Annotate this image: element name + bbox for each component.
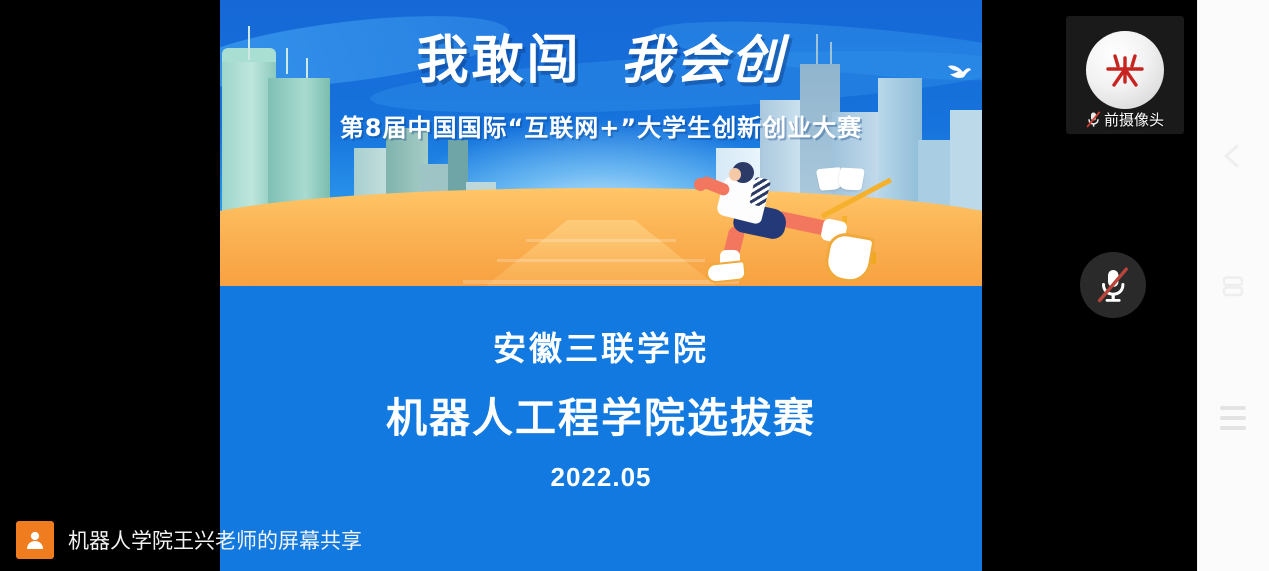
nav-recents-button[interactable] xyxy=(1197,258,1269,314)
road-line-1 xyxy=(526,239,676,242)
organization-name: 安徽三联学院 xyxy=(493,322,709,370)
system-navigation-bar xyxy=(1197,0,1269,571)
avatar-glyph-xing xyxy=(1086,31,1164,109)
poster-headline: 我敢闯 我会创 xyxy=(220,18,982,93)
nav-back-button[interactable] xyxy=(1197,128,1269,184)
road-line-2 xyxy=(497,259,705,262)
chevron-left-icon xyxy=(1220,143,1246,169)
hamburger-menu-icon xyxy=(1220,403,1246,433)
event-title: 机器人工程学院选拔赛 xyxy=(386,384,816,444)
screen-share-banner: 机器人学院王兴老师的屏幕共享 xyxy=(16,521,362,559)
camera-thumbnail[interactable]: 前摄像头 xyxy=(1066,16,1184,134)
nav-menu-button[interactable] xyxy=(1197,390,1269,446)
poster-subheadline: 第8届中国国际“互联网+”大学生创新创业大赛 xyxy=(220,108,982,143)
open-book-icon xyxy=(818,168,864,192)
person-icon xyxy=(16,521,54,559)
competition-poster: 我敢闯 我会创 第8届中国国际“互联网+”大学生创新创业大赛 xyxy=(220,0,982,286)
shared-screen-slide[interactable]: 我敢闯 我会创 第8届中国国际“互联网+”大学生创新创业大赛 安徽三联学院 机器… xyxy=(220,0,982,571)
mic-muted-icon xyxy=(1096,266,1130,304)
mic-mute-button[interactable] xyxy=(1080,252,1146,318)
thumbnail-caption: 前摄像头 xyxy=(1066,109,1184,130)
recents-square-icon xyxy=(1220,273,1246,299)
headline-part-1: 我敢闯 xyxy=(417,18,582,93)
headline-part-2: 我会创 xyxy=(620,18,785,93)
screen-root: 我敢闯 我会创 第8届中国国际“互联网+”大学生创新创业大赛 安徽三联学院 机器… xyxy=(0,0,1269,571)
camera-label: 前摄像头 xyxy=(1104,109,1164,130)
event-date: 2022.05 xyxy=(551,462,652,493)
mic-muted-icon xyxy=(1086,111,1101,128)
avatar xyxy=(1086,31,1164,109)
subheadline-text: 第8届中国国际“互联网+”大学生创新创业大赛 xyxy=(340,114,862,142)
share-banner-label: 机器人学院王兴老师的屏幕共享 xyxy=(68,525,362,555)
